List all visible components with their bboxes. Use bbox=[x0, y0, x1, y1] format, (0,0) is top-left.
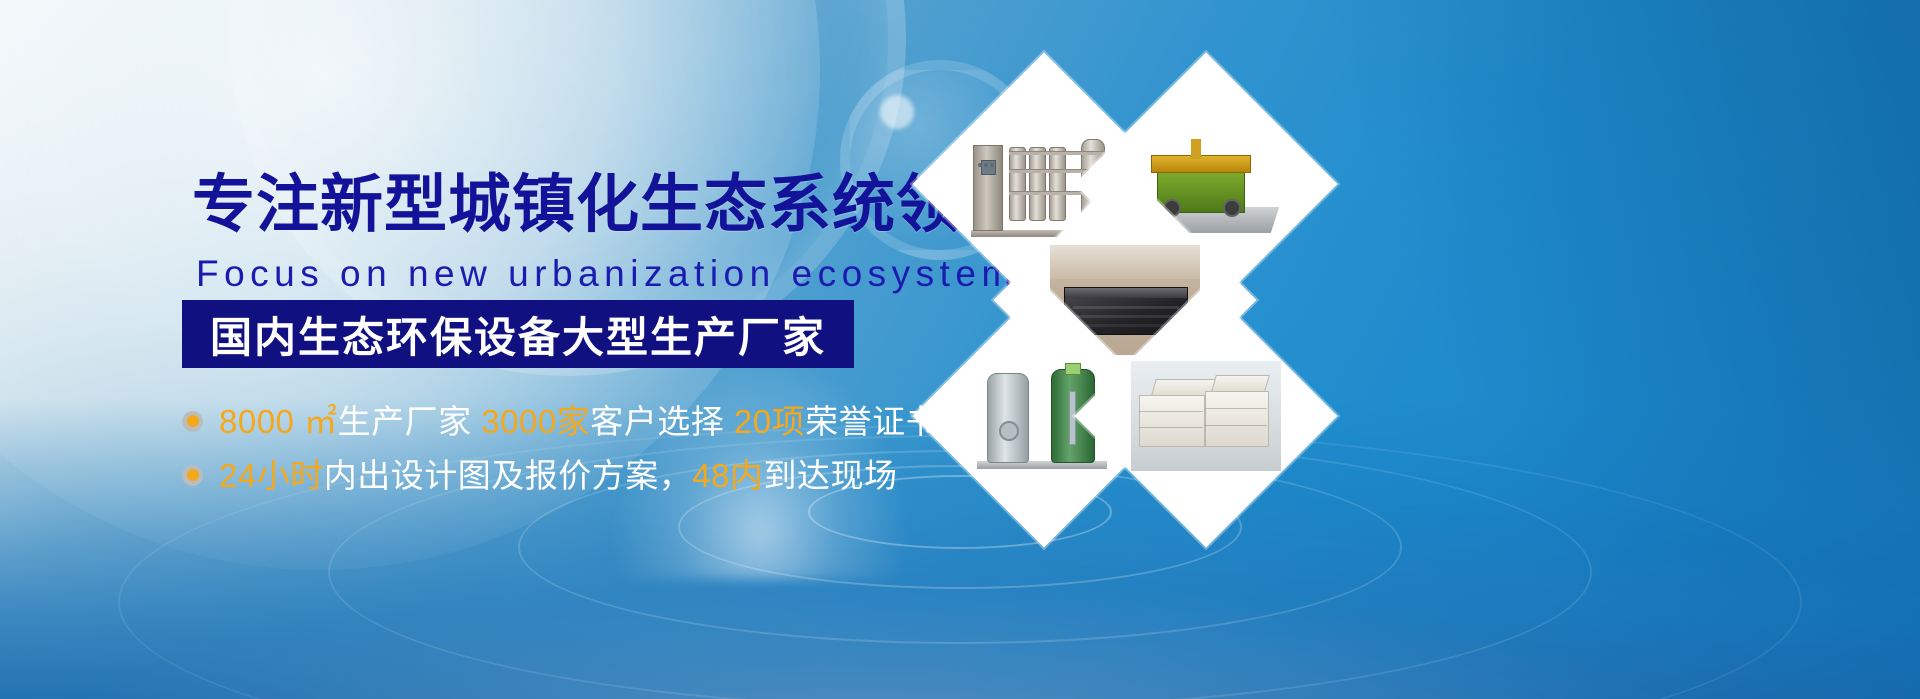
bullet-highlight-segment: 3000家 bbox=[481, 403, 590, 440]
bullet-plain-segment: 客户选择 bbox=[590, 403, 734, 440]
bullet-highlight-segment: 48内 bbox=[692, 457, 763, 494]
orange-dot-icon bbox=[182, 411, 203, 432]
hero-banner: 专注新型城镇化生态系统领域 Focus on new urbanization … bbox=[0, 0, 1920, 699]
bullet-highlight-segment: 24小时 bbox=[219, 457, 324, 494]
stacked-white-blocks-art bbox=[1131, 361, 1281, 471]
bullet-plain-segment: 生产厂家 bbox=[338, 403, 482, 440]
bullet-highlight-segment: 8000 ㎡ bbox=[219, 403, 338, 440]
orange-dot-icon bbox=[182, 465, 203, 486]
bullet-plain-segment: 到达现场 bbox=[763, 457, 897, 494]
banner-copy-block: 专注新型城镇化生态系统领域 Focus on new urbanization … bbox=[0, 0, 1000, 699]
bullet-plain-segment: 内出设计图及报价方案， bbox=[324, 457, 693, 494]
banner-bullet-list: 8000 ㎡生产厂家 3000家客户选择 20项荣誉证书24小时内出设计图及报价… bbox=[182, 398, 1002, 506]
bullet-highlight-segment: 20项 bbox=[734, 403, 805, 440]
banner-highlight-band: 国内生态环保设备大型生产厂家 bbox=[182, 300, 854, 368]
bullet-row: 24小时内出设计图及报价方案，48内到达现场 bbox=[182, 452, 1002, 498]
product-photo-diamond-grid bbox=[915, 55, 1335, 475]
bullet-text: 8000 ㎡生产厂家 3000家客户选择 20项荣誉证书 bbox=[219, 405, 939, 438]
bullet-row: 8000 ㎡生产厂家 3000家客户选择 20项荣誉证书 bbox=[182, 398, 1002, 444]
banner-headline: 专注新型城镇化生态系统领域 bbox=[192, 174, 1024, 237]
bullet-text: 24小时内出设计图及报价方案，48内到达现场 bbox=[219, 459, 897, 492]
banner-subheadline-english: Focus on new urbanization ecosystem bbox=[196, 246, 1018, 302]
banner-band-text: 国内生态环保设备大型生产厂家 bbox=[210, 304, 826, 365]
